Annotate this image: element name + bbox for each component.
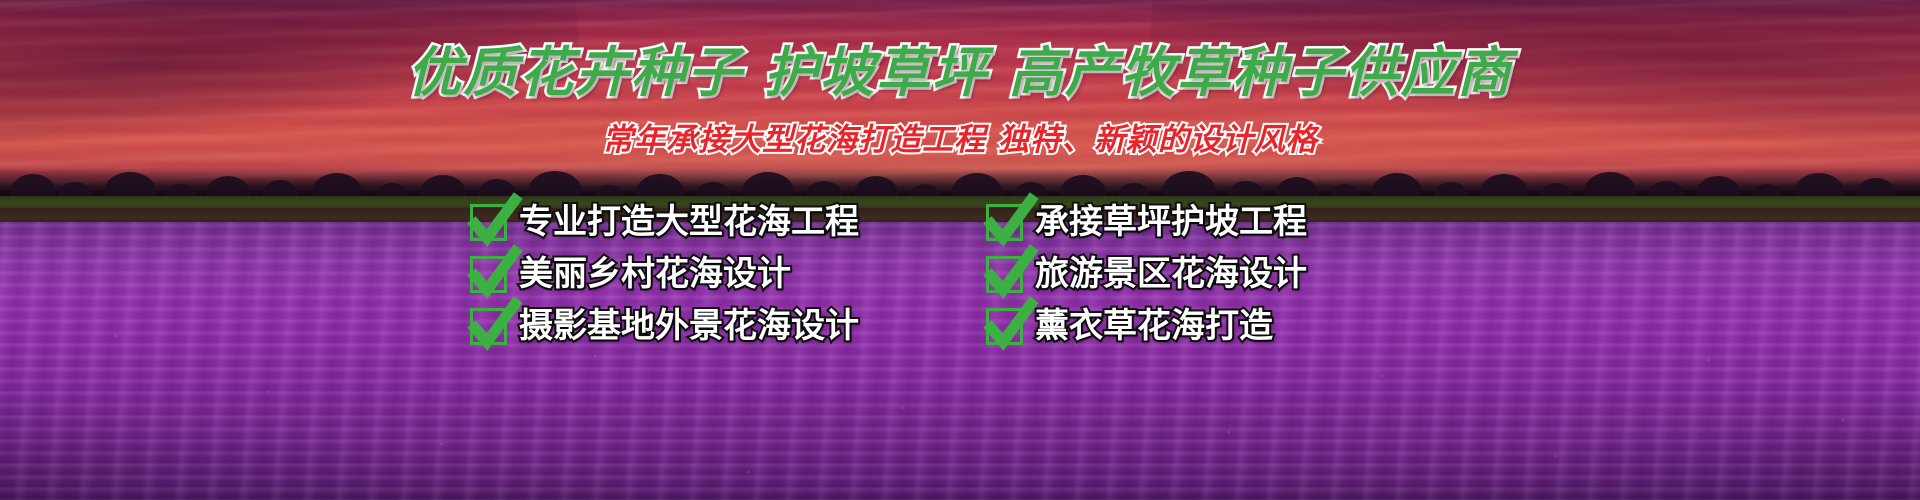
feature-checklist: 专业打造大型花海工程 承接草坪护坡工程 美丽乡村花海设计 (470, 196, 1450, 352)
feature-item-2: 承接草坪护坡工程 (980, 203, 1450, 241)
feature-item-5: 摄影基地外景花海设计 (470, 307, 980, 345)
banner-headline: 优质花卉种子 护坡草坪 高产牧草种子供应商 (0, 42, 1920, 104)
banner-subheadline: 常年承接大型花海打造工程 独特、新颖的设计风格 (0, 120, 1920, 160)
feature-label: 旅游景区花海设计 (1035, 255, 1307, 293)
feature-item-4: 旅游景区花海设计 (980, 255, 1450, 293)
check-mark-icon (986, 308, 1023, 345)
check-mark-icon (986, 204, 1023, 241)
check-mark-icon (986, 256, 1023, 293)
feature-label: 专业打造大型花海工程 (519, 203, 859, 241)
feature-label: 摄影基地外景花海设计 (519, 307, 859, 345)
banner-content: 优质花卉种子 护坡草坪 高产牧草种子供应商 常年承接大型花海打造工程 独特、新颖… (0, 0, 1920, 500)
feature-label: 承接草坪护坡工程 (1035, 203, 1307, 241)
feature-label: 薰衣草花海打造 (1035, 307, 1273, 345)
promo-banner: 优质花卉种子 护坡草坪 高产牧草种子供应商 常年承接大型花海打造工程 独特、新颖… (0, 0, 1920, 500)
check-mark-icon (470, 204, 507, 241)
feature-item-1: 专业打造大型花海工程 (470, 203, 980, 241)
feature-item-6: 薰衣草花海打造 (980, 307, 1450, 345)
check-mark-icon (470, 256, 507, 293)
check-mark-icon (470, 308, 507, 345)
feature-label: 美丽乡村花海设计 (519, 255, 791, 293)
feature-item-3: 美丽乡村花海设计 (470, 255, 980, 293)
